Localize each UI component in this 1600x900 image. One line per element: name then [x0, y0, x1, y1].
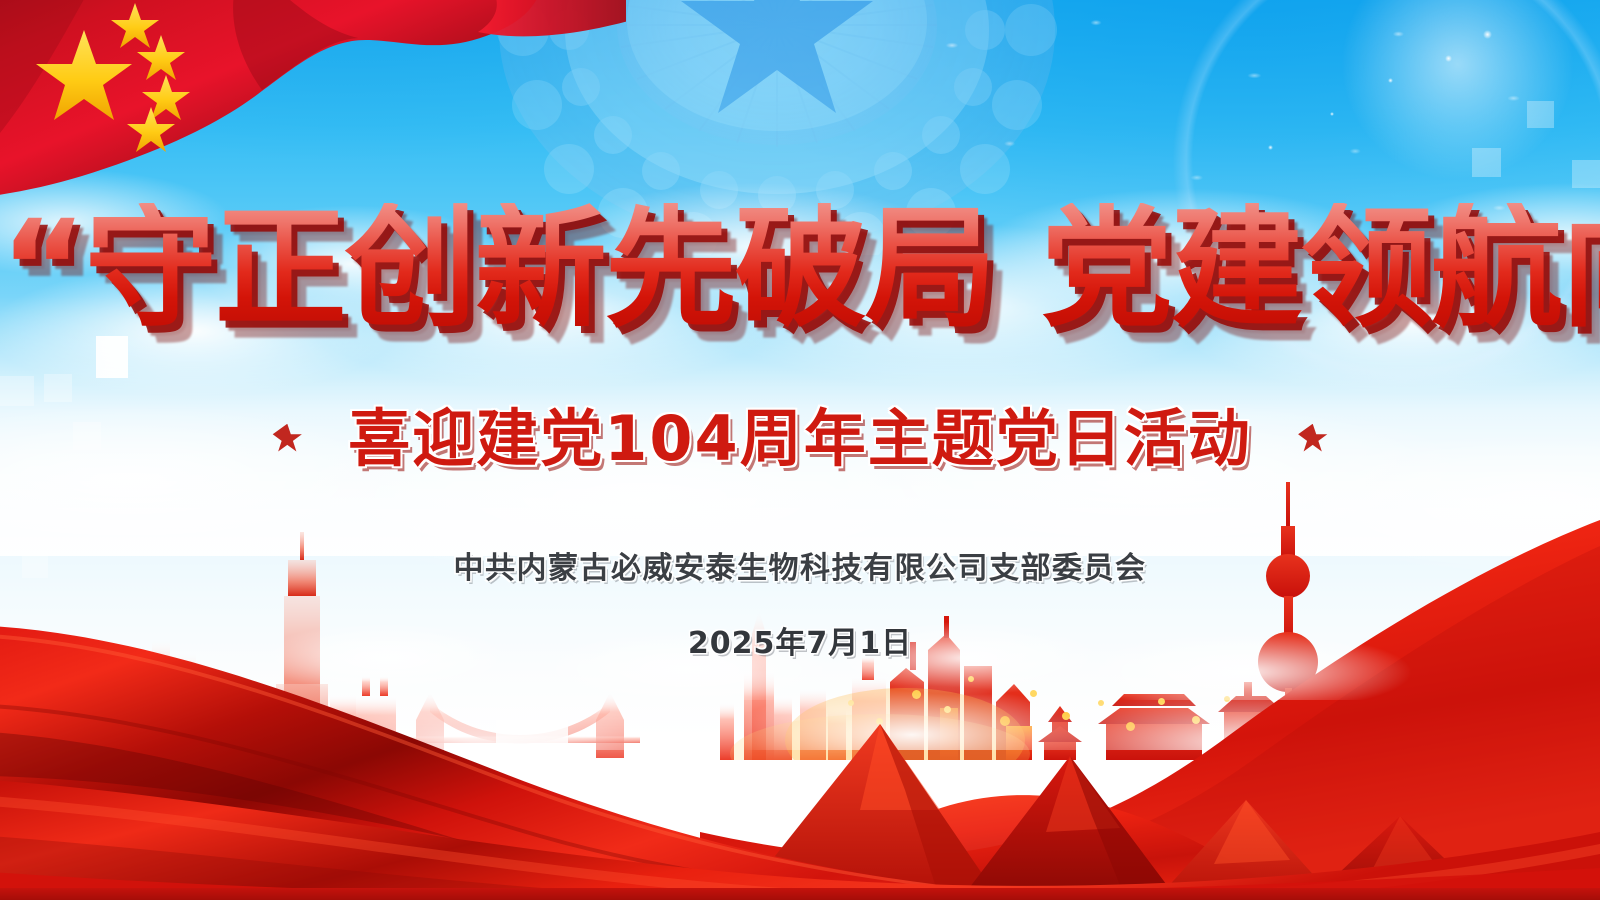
- main-title-phrase-right: 党建领航向阳生: [1041, 192, 1600, 346]
- right-star-icon: [1298, 424, 1328, 454]
- poster-organization: 中共内蒙古必威安泰生物科技有限公司支部委员会: [0, 543, 1600, 587]
- main-title-quote-open: “: [0, 192, 85, 346]
- main-title-phrase-left: 守正创新先破局: [85, 192, 995, 346]
- poster-date: 2025年7月1日: [0, 618, 1600, 662]
- poster-main-title: “守正创新先破局党建领航向阳生”: [0, 203, 1600, 335]
- poster-subtitle: 喜迎建党104周年主题党日活动: [348, 400, 1251, 478]
- poster-canvas: “守正创新先破局党建领航向阳生” 喜迎建党104周年主题党日活动 中共内蒙古必威…: [0, 0, 1600, 900]
- poster-text-content: “守正创新先破局党建领航向阳生” 喜迎建党104周年主题党日活动 中共内蒙古必威…: [0, 0, 1600, 900]
- poster-subtitle-row: 喜迎建党104周年主题党日活动: [0, 400, 1600, 478]
- poster-bottom-edge: [0, 888, 1600, 900]
- left-star-icon: [272, 424, 302, 454]
